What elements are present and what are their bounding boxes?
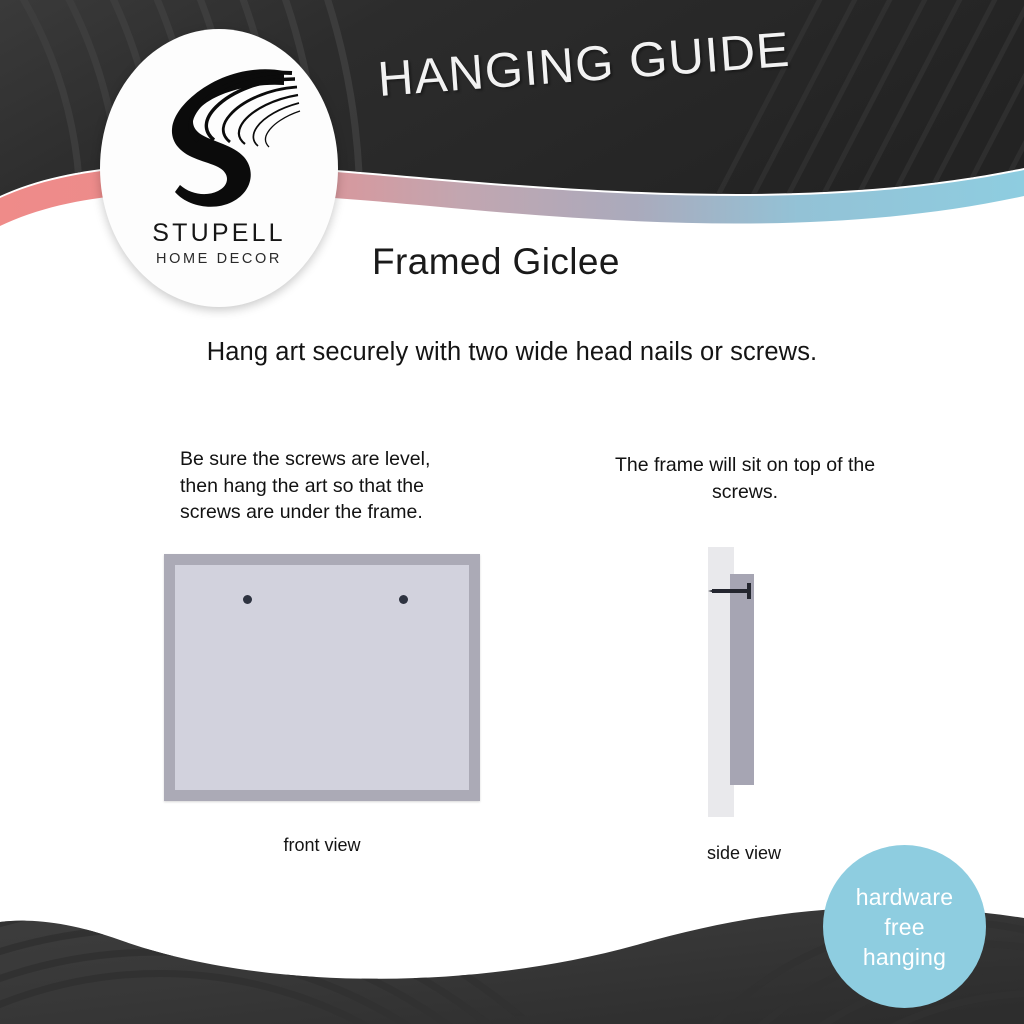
side-view-caption: The frame will sit on top of the screws.	[600, 452, 890, 505]
product-type-title: Framed Giclee	[372, 241, 620, 283]
side-view-diagram	[708, 547, 780, 817]
nail-icon-head	[747, 583, 751, 599]
front-view-label: front view	[164, 835, 480, 856]
screw-dot-right	[399, 595, 408, 604]
brand-wordmark: STUPELL	[100, 219, 338, 248]
badge-line-3: hanging	[863, 942, 946, 972]
front-view-diagram	[164, 554, 480, 801]
stupell-swoosh-icon	[132, 61, 306, 211]
side-view-frame	[730, 574, 754, 785]
brand-tagline: HOME DECOR	[100, 251, 338, 267]
instruction-lede: Hang art securely with two wide head nai…	[0, 338, 1024, 367]
badge-line-2: free	[884, 912, 924, 942]
nail-icon-shaft	[712, 589, 750, 593]
badge-line-1: hardware	[856, 882, 954, 912]
hardware-free-hanging-badge: hardware free hanging	[823, 845, 986, 1008]
screw-dot-left	[243, 595, 252, 604]
front-view-mat	[175, 565, 469, 790]
brand-logo-badge: STUPELL HOME DECOR	[100, 29, 338, 307]
front-view-caption: Be sure the screws are level, then hang …	[180, 446, 470, 526]
hanging-guide-page: HANGING GUIDE STUPELL HOME DECOR Framed …	[0, 0, 1024, 1024]
side-view-label: side view	[654, 843, 834, 864]
